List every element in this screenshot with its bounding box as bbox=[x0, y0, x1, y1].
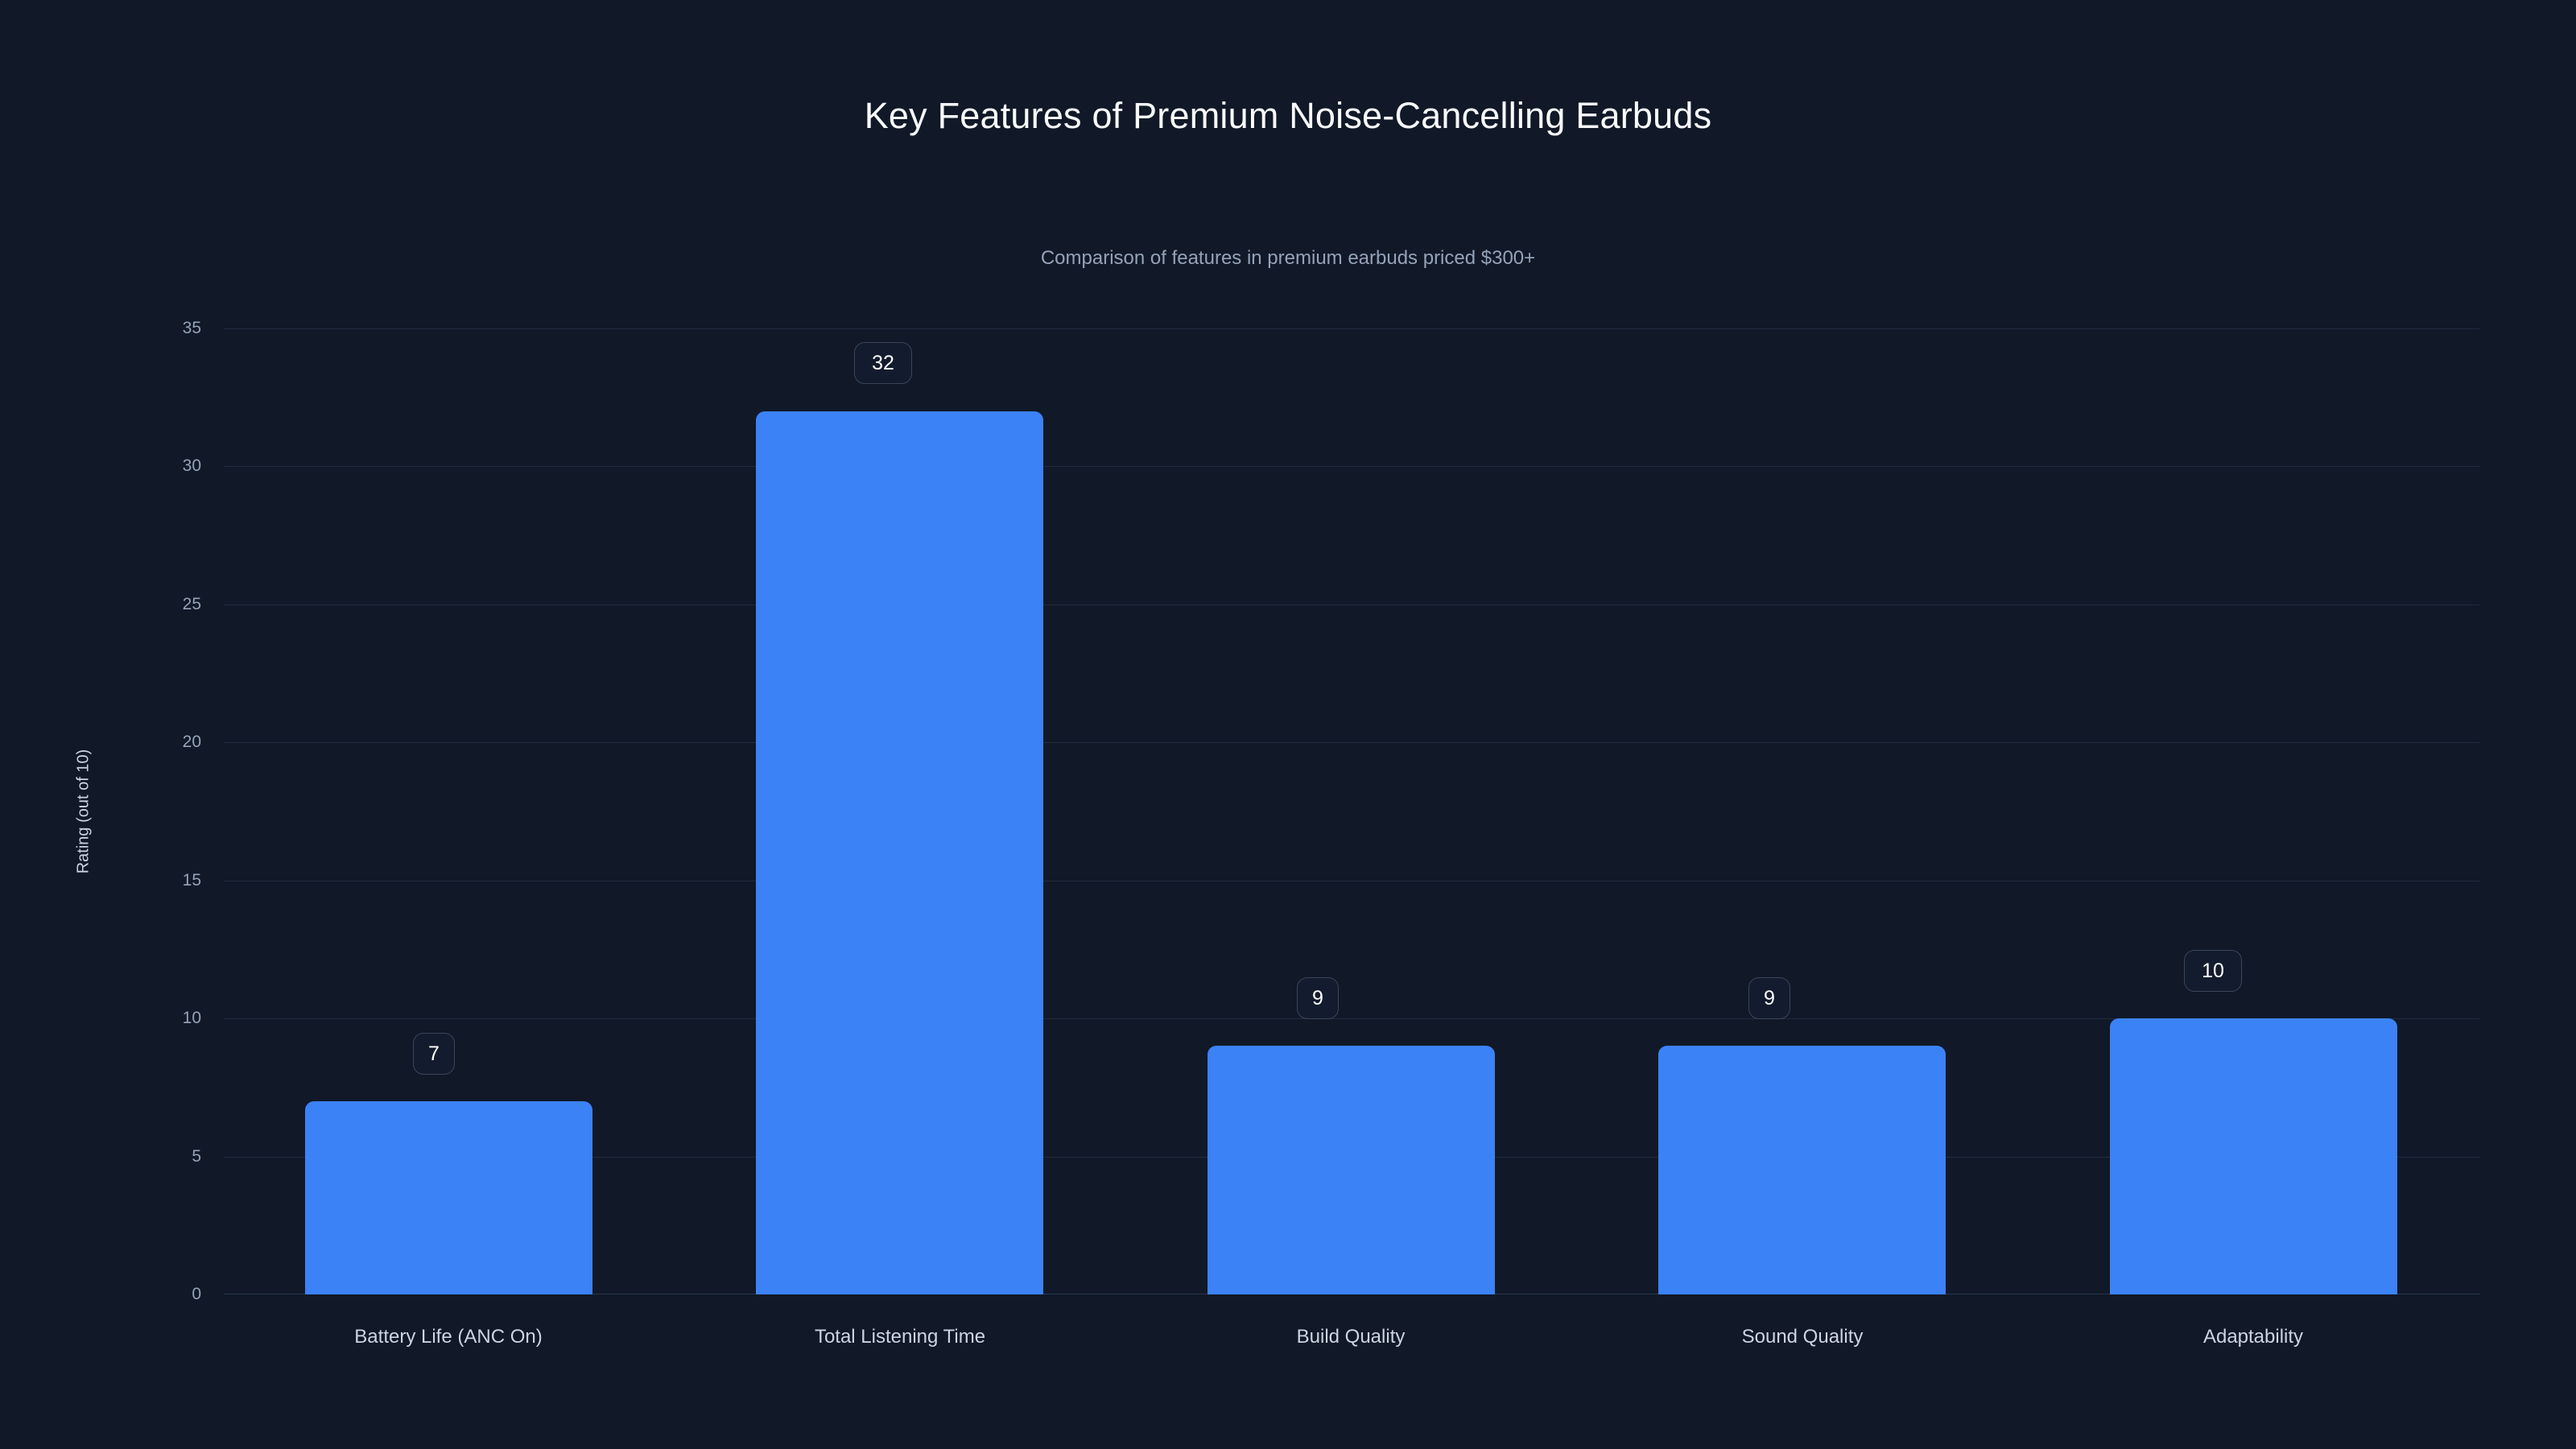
bar[interactable] bbox=[2110, 1018, 2397, 1294]
gridline-25 bbox=[224, 605, 2479, 605]
y-tick-label: 35 bbox=[89, 320, 201, 336]
y-tick-label: 0 bbox=[89, 1286, 201, 1302]
x-tick-label: Total Listening Time bbox=[815, 1326, 985, 1348]
y-tick-label: 30 bbox=[89, 457, 201, 474]
gridline-35 bbox=[224, 328, 2479, 329]
plot-area bbox=[224, 328, 2479, 1294]
y-tick-label: 15 bbox=[89, 872, 201, 889]
bar[interactable] bbox=[756, 411, 1043, 1294]
chart-figure: Key Features of Premium Noise-Cancelling… bbox=[0, 0, 2576, 1449]
y-tick-label: 20 bbox=[89, 733, 201, 750]
gridline-20 bbox=[224, 742, 2479, 743]
bar[interactable] bbox=[305, 1101, 592, 1294]
bar-value-badge: 32 bbox=[854, 342, 912, 384]
x-tick-label: Sound Quality bbox=[1742, 1326, 1864, 1348]
x-tick-label: Build Quality bbox=[1297, 1326, 1406, 1348]
bar[interactable] bbox=[1207, 1046, 1495, 1294]
gridline-30 bbox=[224, 466, 2479, 467]
bar[interactable] bbox=[1658, 1046, 1946, 1294]
gridline-15 bbox=[224, 881, 2479, 881]
chart-subtitle: Comparison of features in premium earbud… bbox=[0, 246, 2576, 270]
x-tick-label: Battery Life (ANC On) bbox=[354, 1326, 542, 1348]
y-tick-label: 10 bbox=[89, 1009, 201, 1026]
y-tick-label: 25 bbox=[89, 596, 201, 613]
bar-value-badge: 7 bbox=[413, 1033, 455, 1075]
bar-value-badge: 10 bbox=[2184, 950, 2242, 992]
bar-value-badge: 9 bbox=[1748, 977, 1790, 1019]
y-axis-title: Rating (out of 10) bbox=[75, 642, 93, 980]
chart-title: Key Features of Premium Noise-Cancelling… bbox=[0, 94, 2576, 138]
x-tick-label: Adaptability bbox=[2203, 1326, 2303, 1348]
bar-value-badge: 9 bbox=[1297, 977, 1339, 1019]
y-tick-label: 5 bbox=[89, 1148, 201, 1165]
